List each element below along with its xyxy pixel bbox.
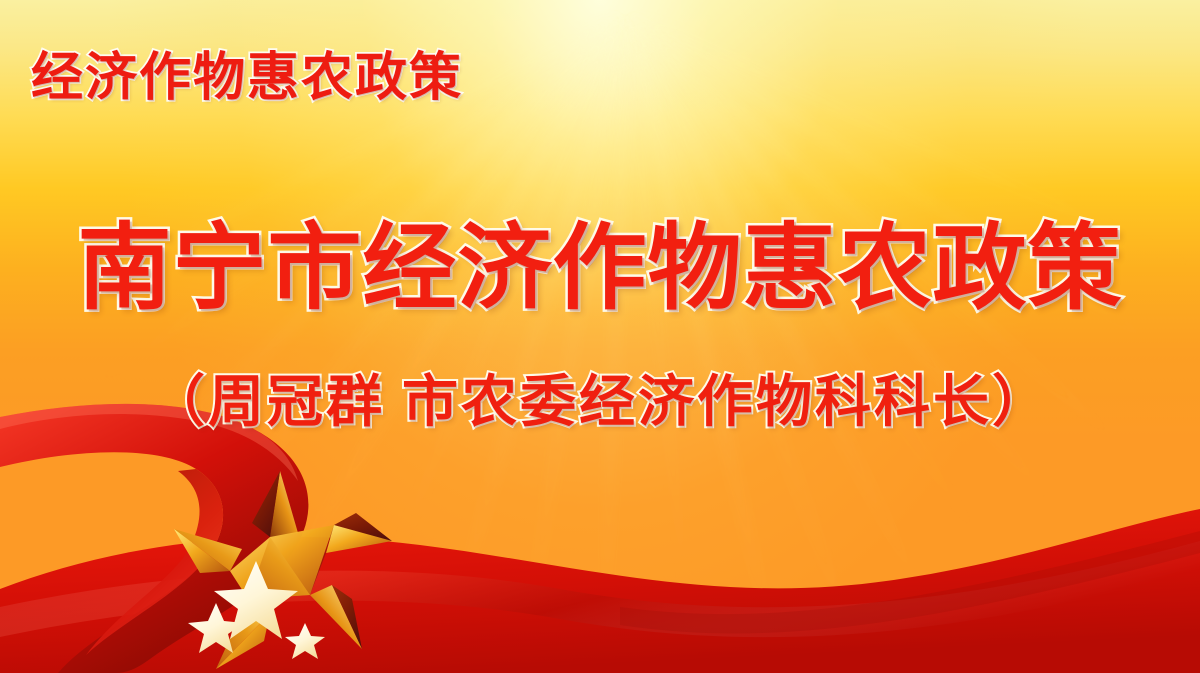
slide-subtitle-presenter: （周冠群 市农委经济作物科科长） [0, 375, 1200, 431]
page-title: 南宁市经济作物惠农政策 [0, 222, 1200, 316]
presentation-slide: 经济作物惠农政策 南宁市经济作物惠农政策 （周冠群 市农委经济作物科科长） [0, 0, 1200, 673]
slide-header-text: 经济作物惠农政策 [31, 52, 463, 107]
golden-three-d-star [130, 463, 420, 673]
